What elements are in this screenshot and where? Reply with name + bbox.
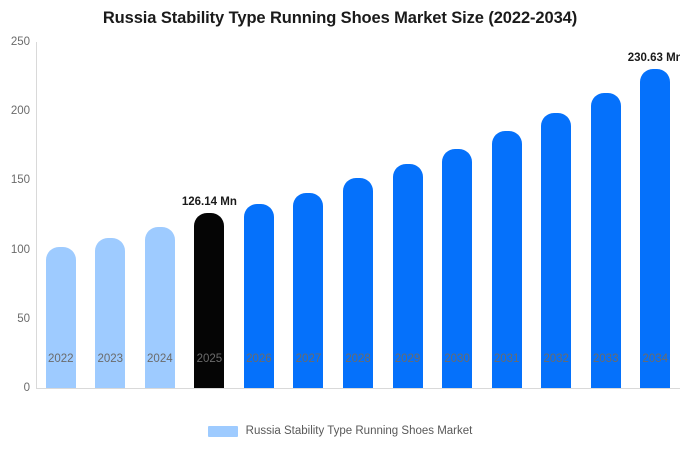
x-axis-tick-2026: 2026 [234, 353, 284, 366]
y-axis-tick: 150 [0, 174, 30, 186]
bars-layer [36, 42, 680, 388]
x-axis-tick-2027: 2027 [284, 353, 334, 366]
legend-label: Russia Stability Type Running Shoes Mark… [246, 425, 473, 437]
chart-legend: Russia Stability Type Running Shoes Mark… [0, 425, 680, 437]
y-axis-tick: 200 [0, 105, 30, 117]
bar-2032[interactable] [541, 113, 571, 388]
x-axis-tick-2031: 2031 [482, 353, 532, 366]
bar-value-label-2034: 230.63 Mn [619, 52, 680, 64]
chart-container: Russia Stability Type Running Shoes Mark… [0, 0, 680, 450]
bar-value-label-2025: 126.14 Mn [173, 196, 245, 208]
y-axis-tick: 0 [0, 382, 30, 394]
bar-2031[interactable] [492, 131, 522, 388]
x-axis-tick-2033: 2033 [581, 353, 631, 366]
x-axis-tick-2023: 2023 [86, 353, 136, 366]
y-axis-tick: 50 [0, 313, 30, 325]
x-axis-tick-2034: 2034 [630, 353, 680, 366]
plot-area [36, 42, 680, 388]
bar-2034[interactable] [640, 69, 670, 388]
y-axis-tick: 250 [0, 36, 30, 48]
x-axis-tick-2024: 2024 [135, 353, 185, 366]
x-axis-tick-2029: 2029 [383, 353, 433, 366]
x-axis-tick-2025: 2025 [185, 353, 235, 366]
x-axis-tick-2028: 2028 [333, 353, 383, 366]
bar-2022[interactable] [46, 247, 76, 388]
y-axis-tick: 100 [0, 244, 30, 256]
chart-title: Russia Stability Type Running Shoes Mark… [0, 9, 680, 28]
x-axis-tick-2032: 2032 [531, 353, 581, 366]
x-axis-line [36, 388, 680, 389]
legend-swatch-icon [208, 426, 238, 437]
bar-2033[interactable] [591, 93, 621, 388]
x-axis-tick-2030: 2030 [432, 353, 482, 366]
x-axis-tick-2022: 2022 [36, 353, 86, 366]
